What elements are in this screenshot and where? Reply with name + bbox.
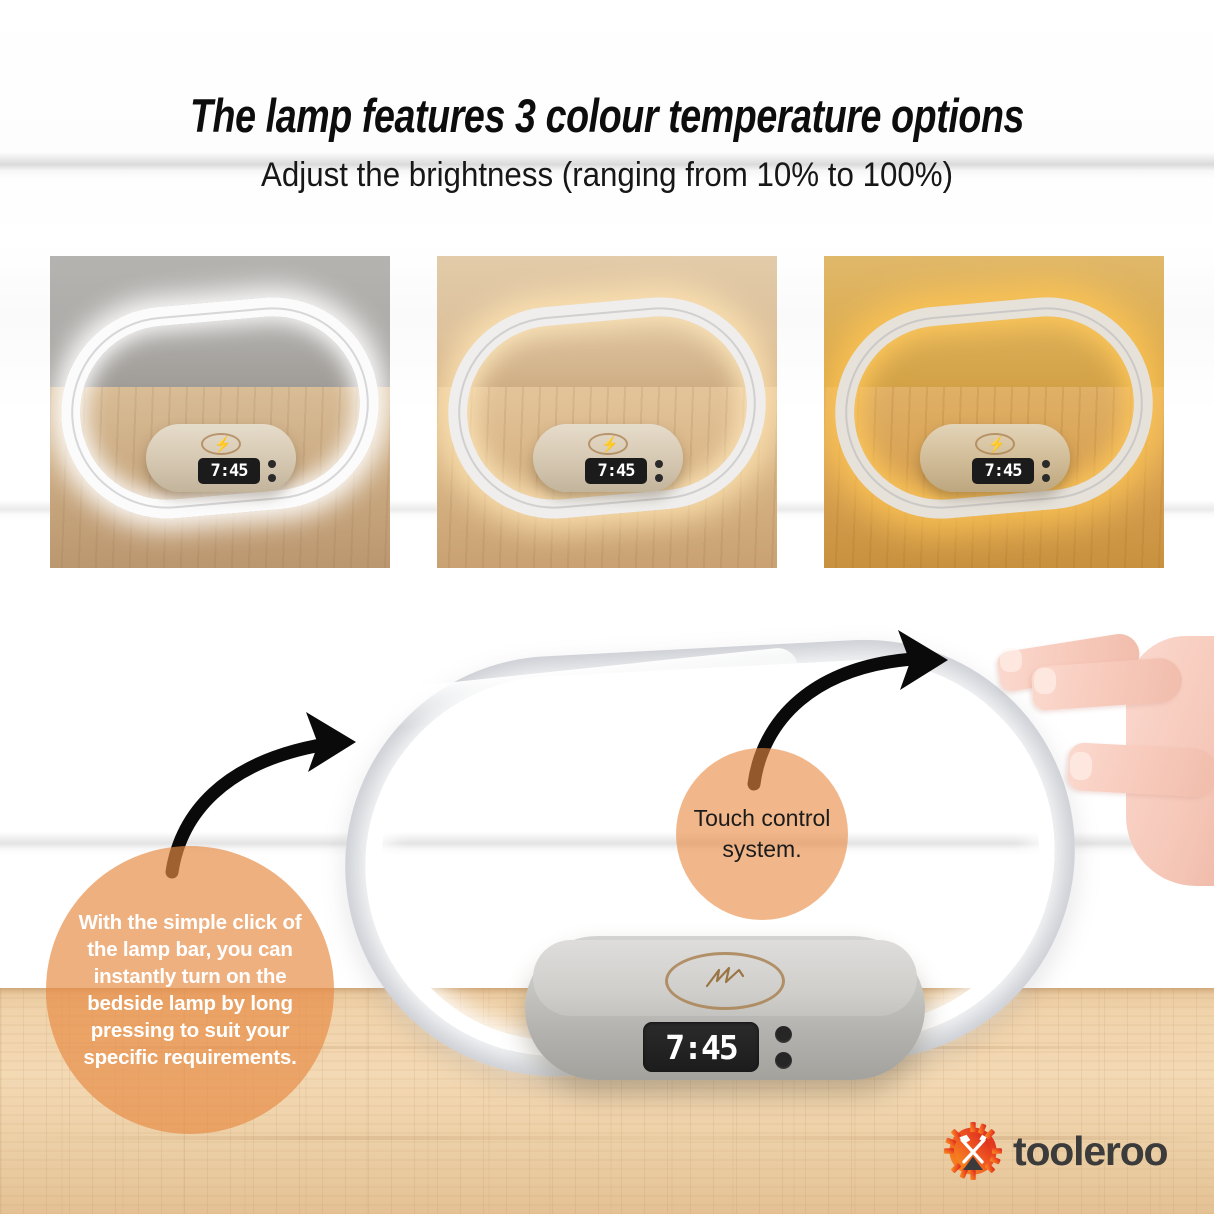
clock-time: 7:45 — [985, 461, 1022, 481]
lightning-bolt-icon: ⚡ — [214, 436, 231, 451]
mode-button[interactable] — [775, 1026, 792, 1043]
set-button[interactable] — [1042, 474, 1050, 482]
callout-text: Touch control system. — [692, 803, 832, 865]
mode-button[interactable] — [268, 460, 276, 468]
lamp-base: ⚡ 7:45 — [146, 424, 296, 492]
mode-button[interactable] — [655, 460, 663, 468]
page-subtitle: Adjust the brightness (ranging from 10% … — [49, 156, 1166, 195]
clock-display: 7:45 — [198, 458, 260, 484]
clock-display: 7:45 — [585, 458, 647, 484]
brand-logo[interactable]: tooleroo — [944, 1122, 1167, 1180]
colour-temperature-gallery: ⚡ 7:45 ⚡ 7:45 — [0, 256, 1214, 568]
set-button[interactable] — [268, 474, 276, 482]
fingernail — [1070, 752, 1092, 780]
gear-hammer-wrench-icon — [944, 1122, 1002, 1180]
set-button[interactable] — [775, 1052, 792, 1069]
fingernail — [1000, 648, 1022, 672]
lamp-base: ⚡ 7:45 — [533, 424, 683, 492]
brand-wordmark: tooleroo — [1013, 1131, 1167, 1172]
infographic-page: The lamp features 3 colour temperature o… — [0, 0, 1214, 1214]
callout-text: With the simple click of the lamp bar, y… — [68, 909, 312, 1071]
lightning-bolt-icon: ⚡ — [601, 436, 618, 451]
lightning-bolt-icon — [703, 964, 747, 998]
clock-display: 7:45 — [972, 458, 1034, 484]
clock-display: 7:45 — [643, 1022, 759, 1072]
lightning-bolt-icon: ⚡ — [988, 436, 1005, 451]
clock-time: 7:45 — [665, 1028, 736, 1067]
fingernail — [1034, 668, 1056, 694]
thumbnail-warm-amber[interactable]: ⚡ 7:45 — [824, 256, 1164, 568]
thumbnail-neutral-warm[interactable]: ⚡ 7:45 — [437, 256, 777, 568]
clock-time: 7:45 — [211, 461, 248, 481]
thumbnail-cool-white[interactable]: ⚡ 7:45 — [50, 256, 390, 568]
callout-touch-control: Touch control system. — [676, 748, 848, 920]
set-button[interactable] — [655, 474, 663, 482]
mode-button[interactable] — [1042, 460, 1050, 468]
lamp-base: 7:45 — [525, 936, 925, 1080]
clock-time: 7:45 — [598, 461, 635, 481]
page-title: The lamp features 3 colour temperature o… — [121, 88, 1092, 143]
callout-lamp-bar-click: With the simple click of the lamp bar, y… — [46, 846, 334, 1134]
lamp-base: ⚡ 7:45 — [920, 424, 1070, 492]
